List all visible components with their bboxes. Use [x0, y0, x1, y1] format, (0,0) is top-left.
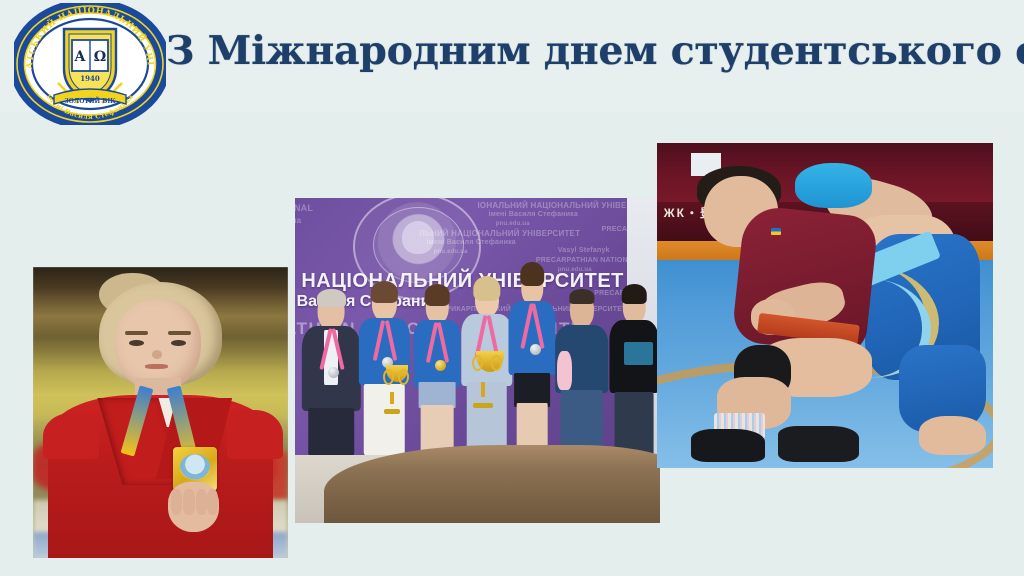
- trophy-base: [384, 409, 400, 414]
- trophy-handle: [491, 355, 502, 371]
- white-trousers: [364, 384, 405, 455]
- presentation-slide: ПРИКАРПАТСЬКИЙ НАЦІОНАЛЬНИЙ УНІВЕРСИТЕТ …: [0, 0, 1024, 576]
- blue-headgear: [795, 163, 872, 209]
- jacket-shoulder-left: [43, 413, 99, 460]
- trophy-handle: [398, 369, 409, 385]
- finger: [171, 489, 182, 515]
- trophy-base: [473, 403, 493, 408]
- medal-emblem: [180, 454, 210, 479]
- light-shirt: [461, 314, 512, 386]
- person-official: [554, 292, 609, 455]
- finger: [207, 489, 218, 515]
- athlete-mouth: [145, 364, 168, 369]
- athlete-eye-left: [129, 340, 144, 346]
- wrestling-shoe-right: [778, 426, 859, 462]
- banner-watermark: імені Василя Стефаника: [426, 239, 515, 247]
- hair: [622, 284, 647, 304]
- banner-watermark: pnu.edu.ua: [434, 249, 468, 256]
- svg-text:А: А: [74, 49, 86, 65]
- wrestling-shoe-left: [691, 429, 765, 462]
- university-logo: ПРИКАРПАТСЬКИЙ НАЦІОНАЛЬНИЙ УНІВЕРСИТЕТ …: [14, 3, 166, 125]
- silver-medal: [328, 367, 339, 378]
- trophy-stem: [390, 392, 394, 404]
- blue-wrestler-foot: [919, 416, 986, 455]
- gold-medal: [435, 360, 446, 371]
- tshirt-graphic: [624, 342, 653, 365]
- silver-medal: [530, 344, 541, 355]
- hair: [520, 262, 544, 286]
- person-athlete-4: [507, 270, 558, 455]
- banner-watermark: IONAL: [295, 203, 313, 213]
- trophy-handle: [383, 369, 394, 385]
- athlete-nose: [152, 350, 162, 359]
- finger: [196, 489, 207, 515]
- svg-text:Ω: Ω: [94, 49, 106, 65]
- photo-sambo-athlete: [33, 267, 288, 558]
- hair: [317, 289, 345, 307]
- svg-text:1940: 1940: [80, 74, 100, 83]
- person-athlete-2: [412, 289, 463, 455]
- athlete-brow-left: [125, 331, 148, 335]
- trousers: [309, 408, 355, 455]
- athlete-hand: [168, 482, 219, 531]
- jeans: [466, 382, 507, 454]
- trophy-stem: [481, 382, 485, 397]
- banner-watermark: u.ua: [295, 216, 301, 225]
- banner-watermark: імені Василя Стефаника: [488, 211, 577, 219]
- jacket-shoulder-right: [227, 410, 283, 459]
- banner-watermark: ЛЬНИЙ НАЦІОНАЛЬНИЙ УНІВЕРСИТЕТ: [419, 229, 580, 238]
- page-title: З Міжнародним днем студентського спорту: [166, 14, 1022, 88]
- finger: [183, 489, 194, 515]
- svg-text:ЗОЛОТИЙ ВІК: ЗОЛОТИЙ ВІК: [64, 97, 116, 105]
- photo-wrestling-match: ЖК・豊: [657, 143, 993, 468]
- person-coach-suit: [302, 292, 360, 455]
- photo-team-with-trophies: IONAL u.ua ІОНАЛЬНИЙ НАЦІОНАЛЬНИЙ УНІВЕР…: [295, 198, 660, 523]
- mascot-doll: [557, 351, 571, 390]
- jeans: [615, 392, 654, 455]
- hair: [569, 289, 594, 304]
- ukraine-flag-patch: [771, 228, 781, 235]
- banner-watermark: pnu.edu.ua: [496, 221, 530, 228]
- person-athlete-1: [357, 286, 412, 455]
- person-student: [609, 289, 660, 455]
- hair: [371, 281, 397, 303]
- athlete-eye-right: [171, 340, 186, 346]
- black-shorts: [514, 373, 550, 406]
- banner-watermark: Vasyl Stefanyk: [558, 247, 610, 255]
- athlete-brow-right: [168, 331, 191, 335]
- blonde-hair: [473, 276, 500, 302]
- hair: [425, 284, 450, 306]
